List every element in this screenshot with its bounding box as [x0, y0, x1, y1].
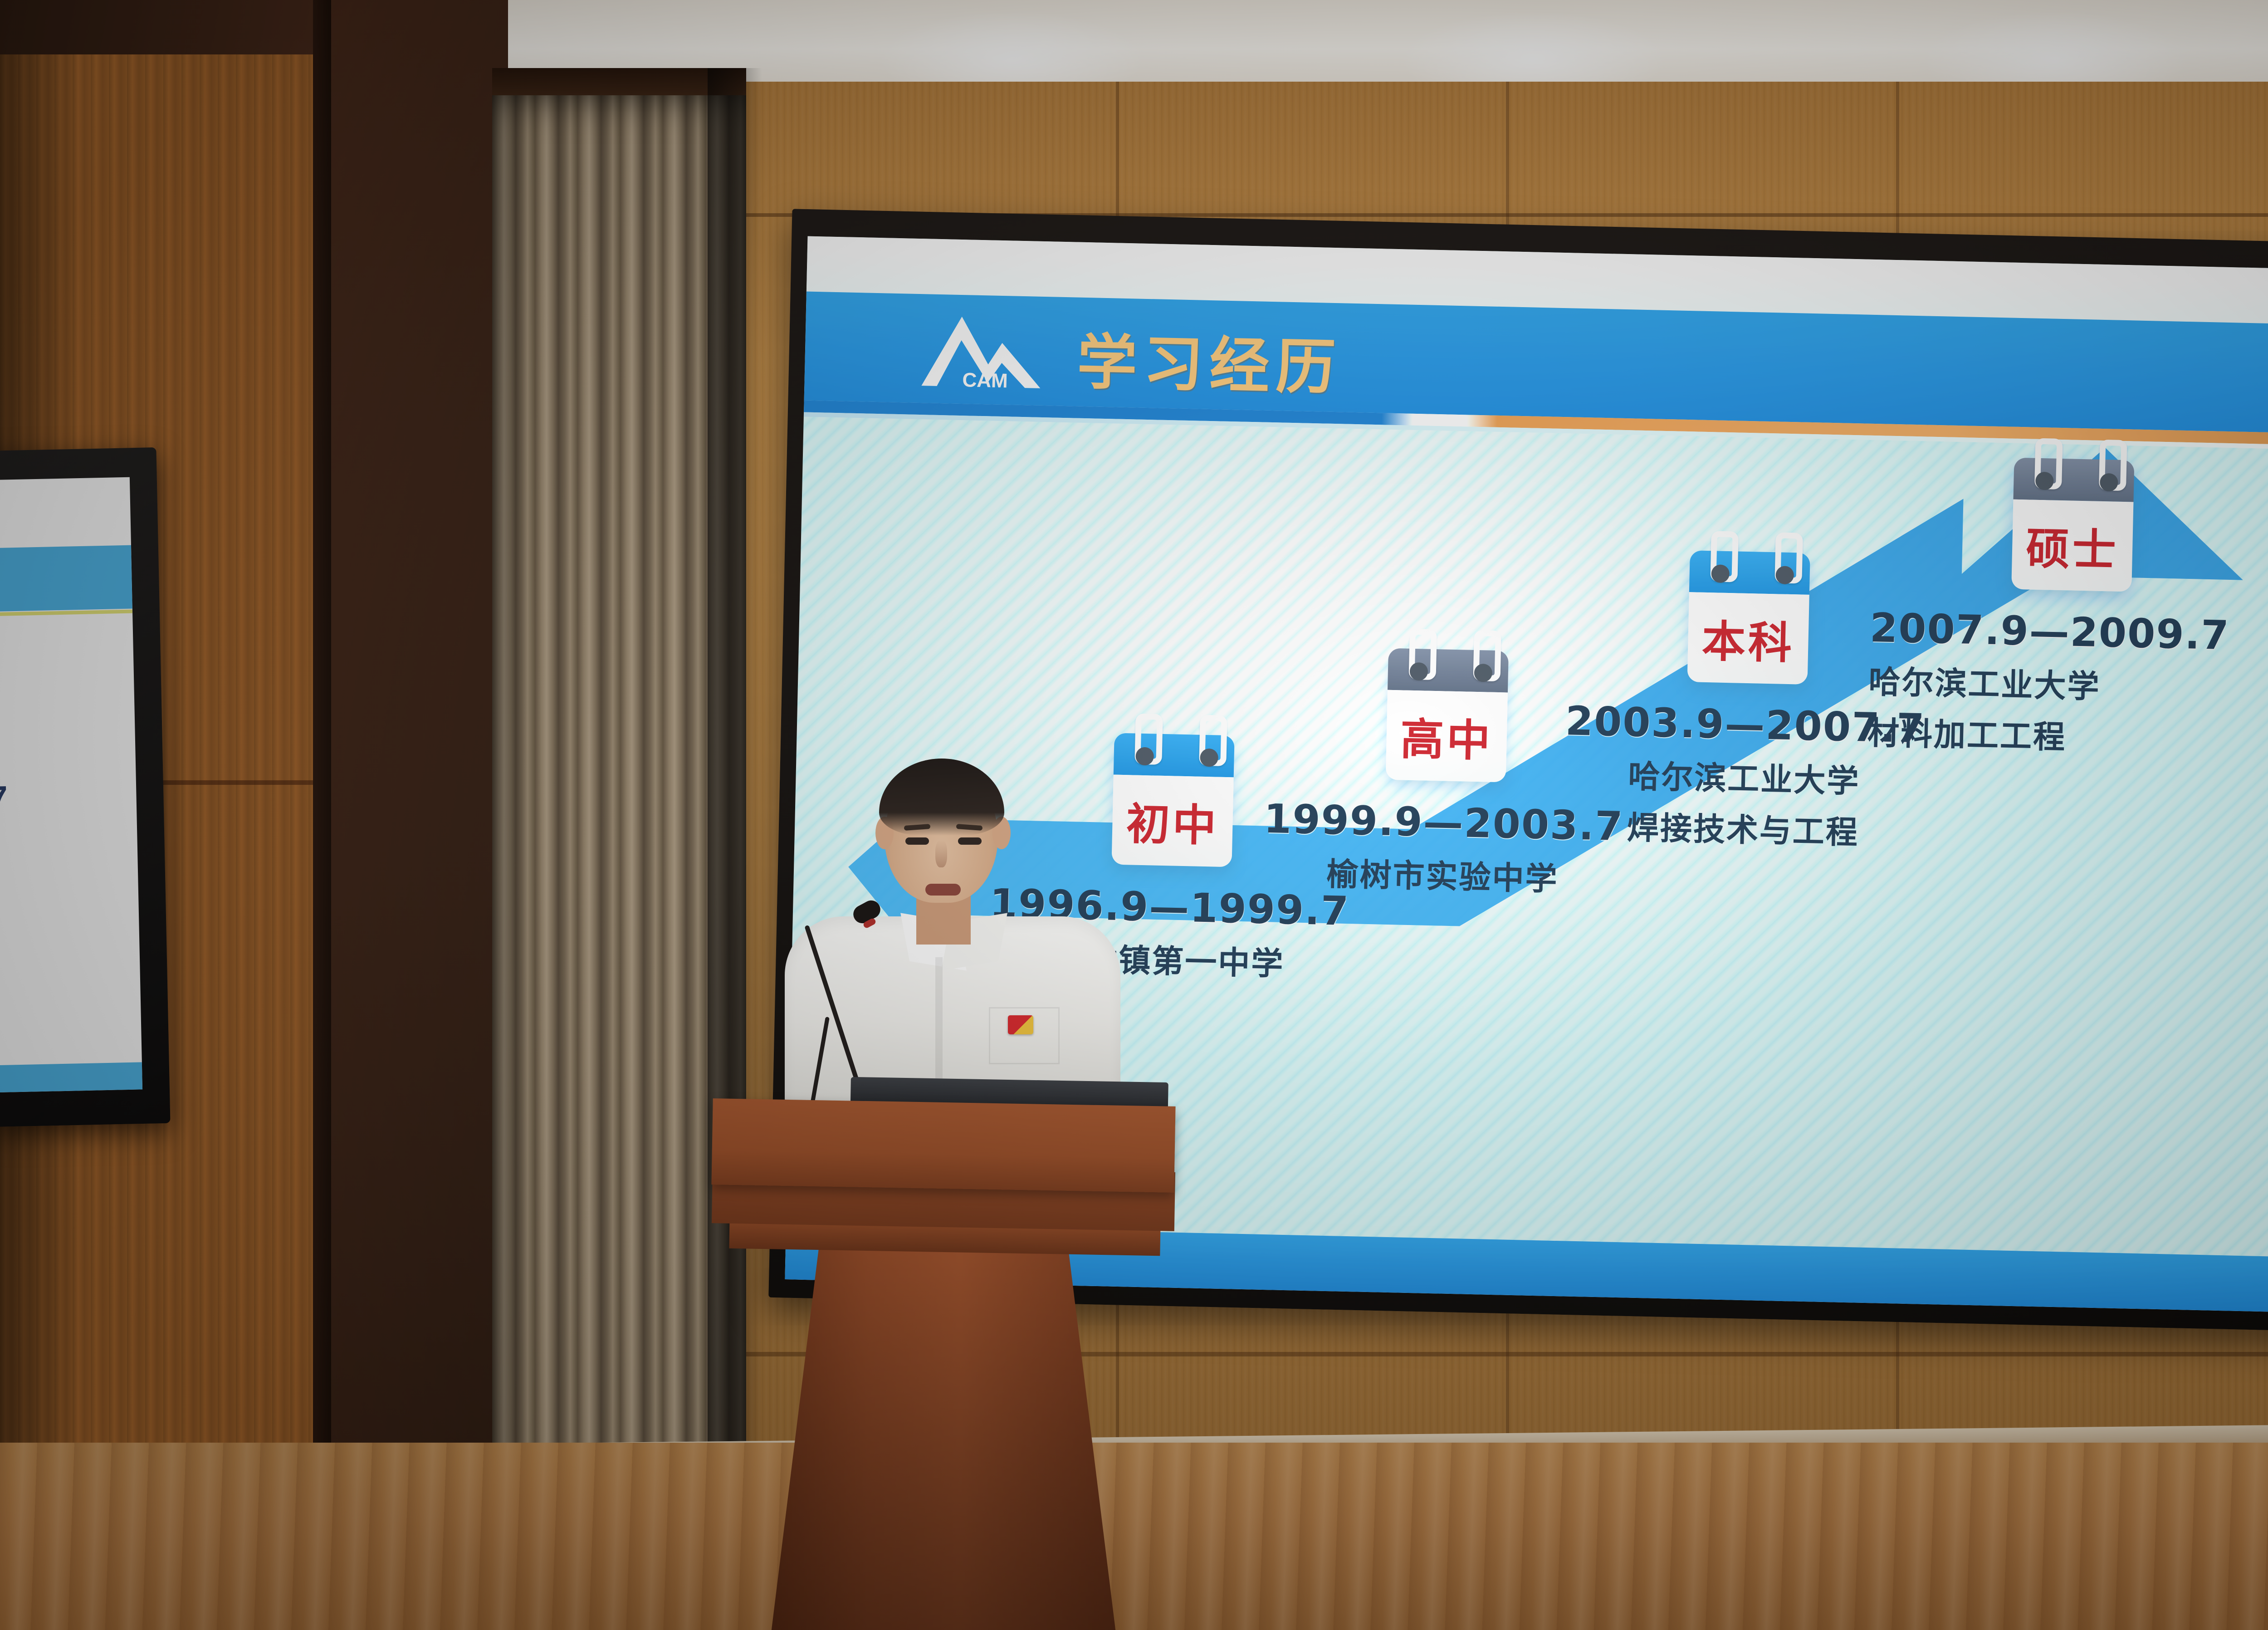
stage-label: 初中 — [1126, 788, 1220, 853]
timeline-meta: 2007.9—2009.7 哈尔滨工业大学 材料加工工程 — [1853, 604, 2268, 763]
speaker-mouth — [925, 884, 961, 896]
timeline-years: 2007.9—2009.7 — [1869, 604, 2268, 661]
speaker-eye — [958, 837, 982, 845]
wall-corner-edge — [313, 0, 331, 1630]
timeline-card[interactable]: 初中 — [1111, 733, 1234, 867]
curtain-shadow — [708, 68, 762, 1533]
stage-label: 高中 — [1400, 704, 1494, 768]
timeline-card[interactable]: 硕士 — [2011, 458, 2134, 592]
auditorium-scene: .7 学 CAM 学习经历 — [0, 0, 2268, 1630]
timeline-major: 焊接技术与工程 — [1539, 800, 1948, 855]
party-emblem-pin-icon — [1008, 1015, 1033, 1034]
speaker-eye — [905, 837, 929, 845]
timeline-institution: 哈尔滨工业大学 — [1868, 656, 2268, 712]
timeline-card[interactable]: 高中 — [1386, 648, 1509, 783]
podium-desktop — [711, 1098, 1175, 1193]
calendar-body: 高中 — [1386, 690, 1508, 783]
wood-floor — [0, 1443, 2268, 1630]
monitor-blue-band — [0, 545, 132, 612]
monitor-footer-band — [0, 1062, 142, 1092]
stage-label: 硕士 — [2025, 513, 2119, 578]
speaker-nose — [935, 840, 947, 867]
stage-label: 本科 — [1701, 606, 1795, 671]
timeline-institution: 榆树市实验中学 — [1238, 847, 1647, 902]
monitor-text-fragment-school: 学 — [0, 817, 83, 858]
timeline-institution: 哈尔滨工业大学 — [1540, 749, 1949, 804]
calendar-body: 本科 — [1687, 592, 1809, 685]
left-monitor-screen[interactable]: .7 学 — [0, 477, 142, 1093]
monitor-text-fragment-year: .7 — [0, 778, 88, 817]
calendar-body: 硕士 — [2011, 499, 2133, 592]
timeline-card[interactable]: 本科 — [1687, 550, 1810, 685]
calendar-body: 初中 — [1111, 775, 1233, 867]
podium-shading — [771, 1243, 1116, 1630]
